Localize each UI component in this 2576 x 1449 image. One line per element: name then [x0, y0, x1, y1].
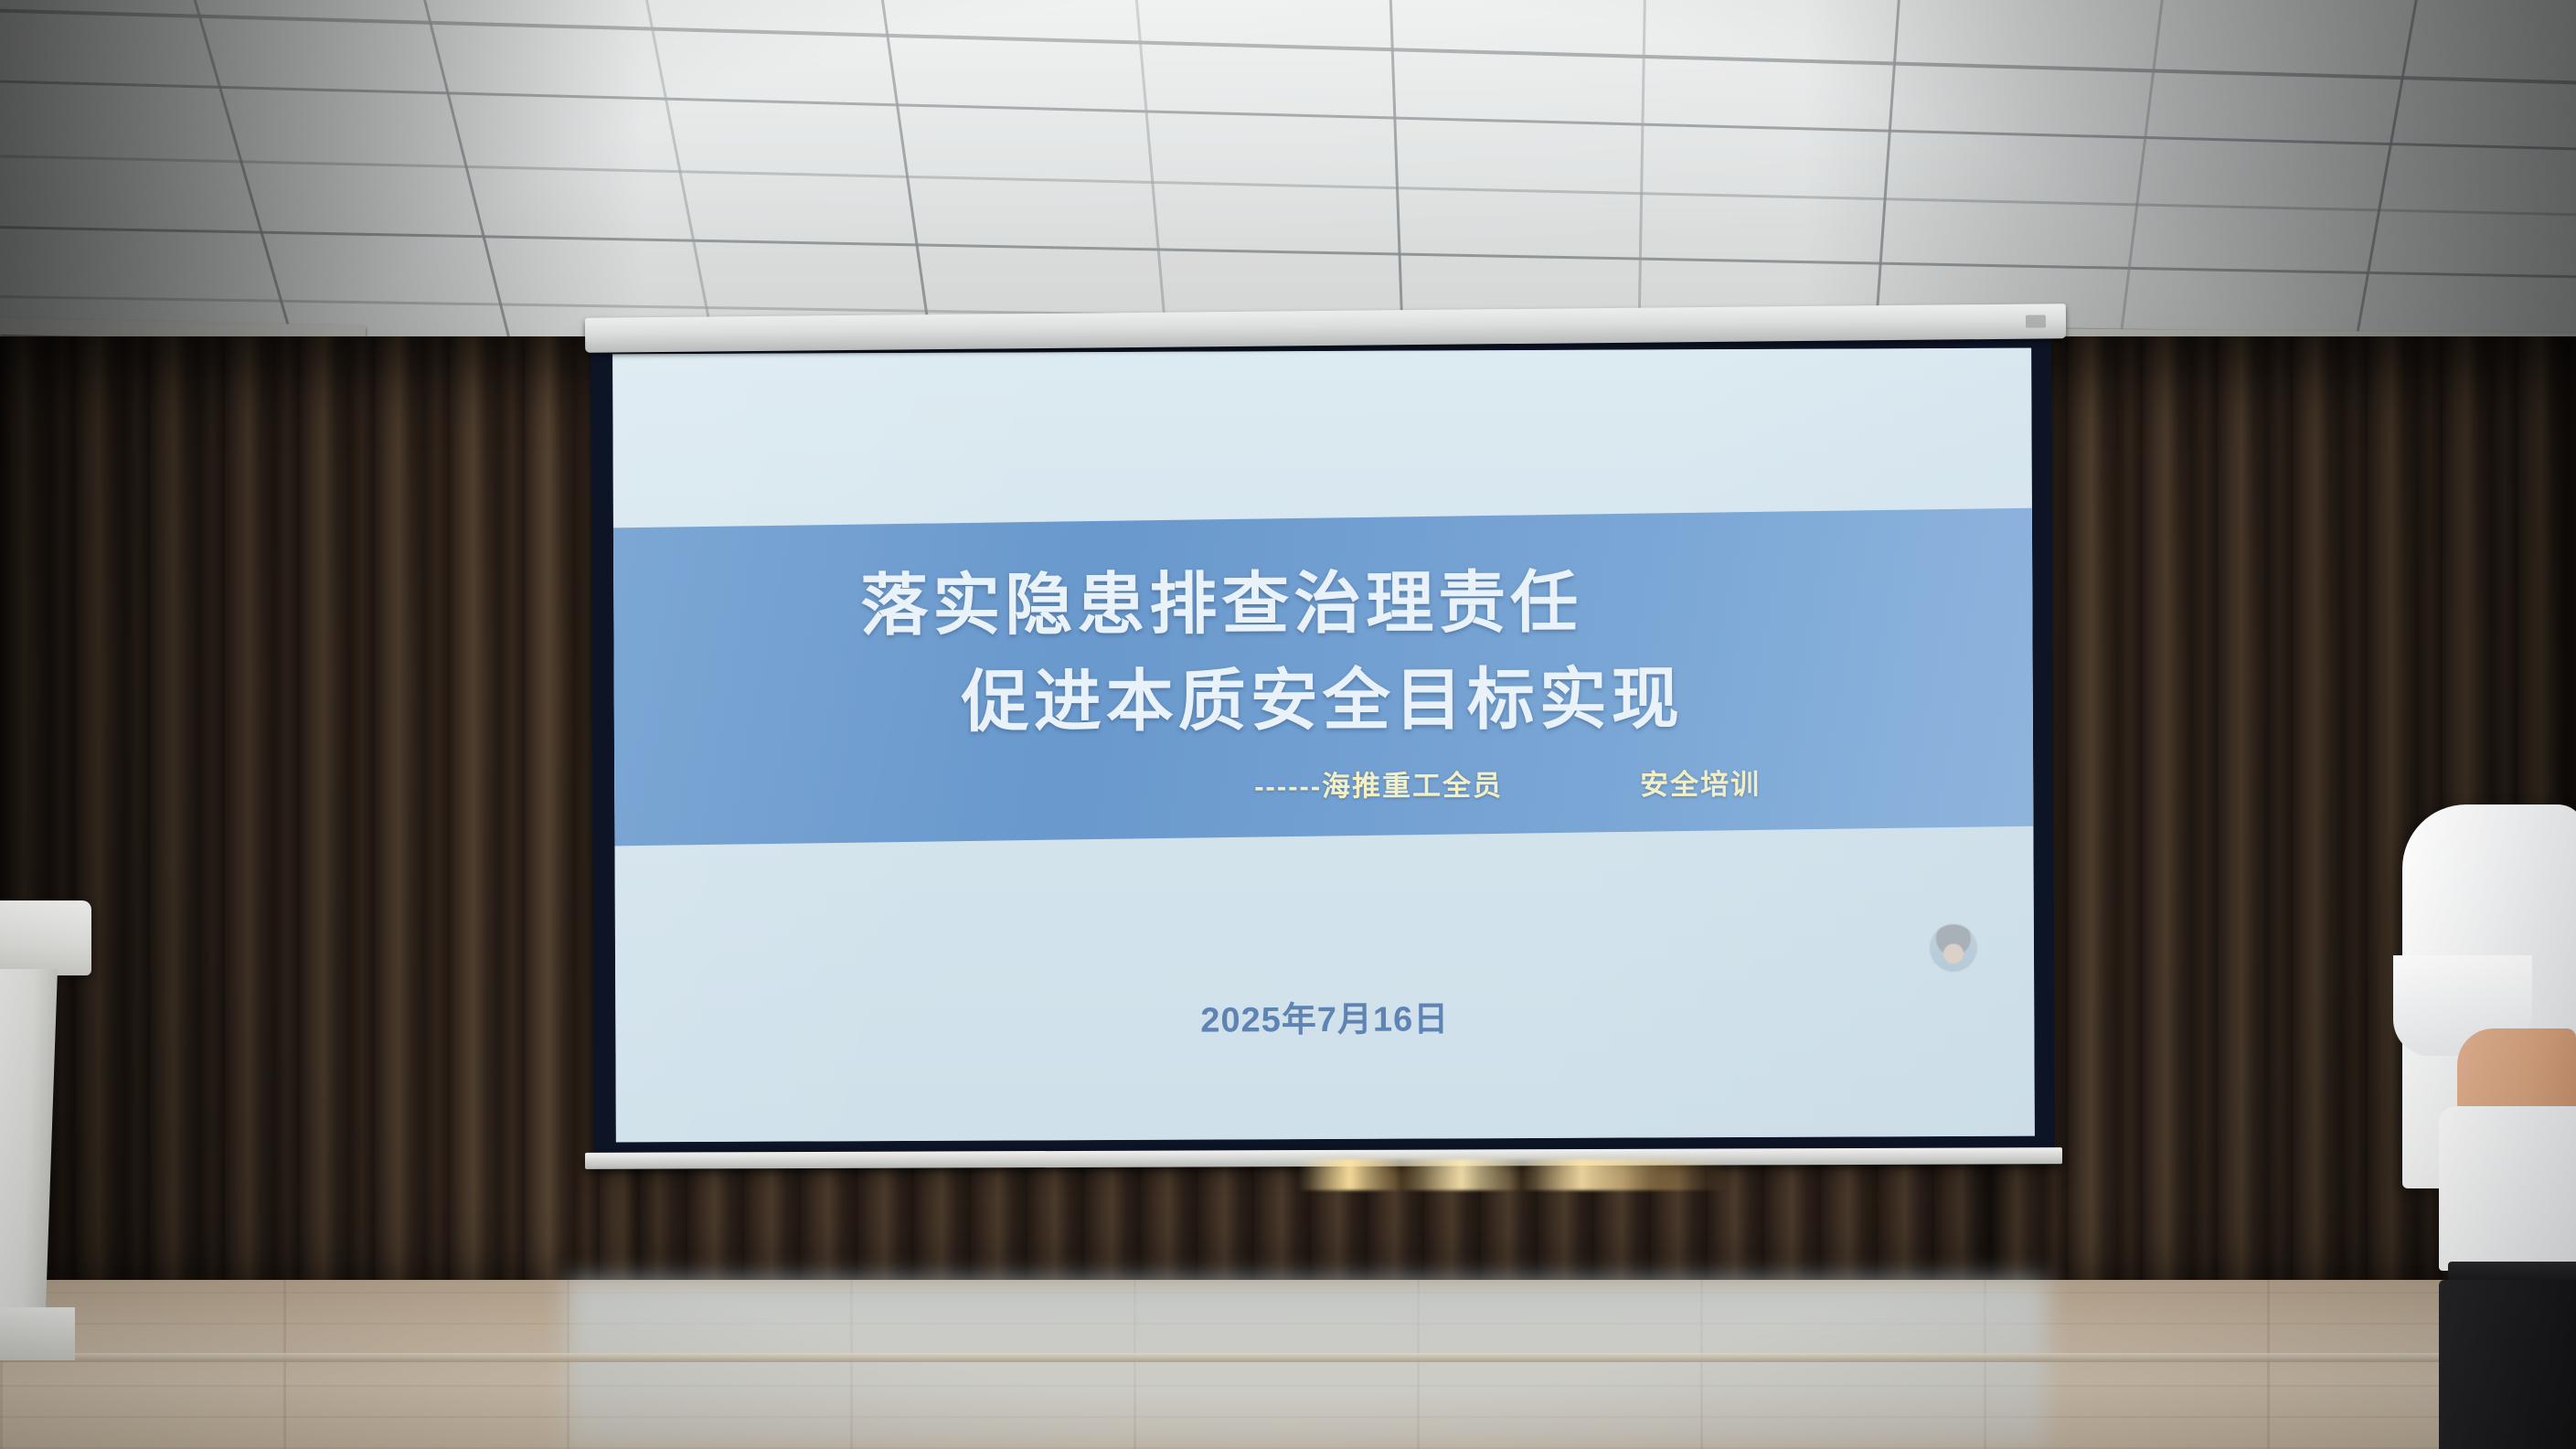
podium-base: [0, 1307, 75, 1360]
presentation-slide: 落实隐患排查治理责任 促进本质安全目标实现 ------海推重工全员安全培训 2…: [612, 348, 2035, 1143]
slide-title-line-2: 促进本质安全目标实现: [962, 645, 1684, 745]
curtain-left: [0, 336, 640, 1305]
floor-edge-strip: [0, 1353, 2576, 1362]
casing-brand-logo-icon: [2026, 314, 2046, 327]
slide-subtitle-right: 安全培训: [1640, 768, 1761, 801]
floor: [0, 1280, 2576, 1449]
standing-person: [2393, 804, 2576, 1449]
presenter-avatar-icon: [1930, 924, 1977, 972]
person-shirt-lower: [2439, 1106, 2576, 1271]
slide-date: 2025年7月16日: [1200, 990, 1449, 1041]
slide-subtitle-left: ------海推重工全员: [1254, 770, 1503, 803]
projection-screen-surface: 落实隐患排查治理责任 促进本质安全目标实现 ------海推重工全员安全培训 2…: [612, 348, 2035, 1143]
conference-room-photo: 落实隐患排查治理责任 促进本质安全目标实现 ------海推重工全员安全培训 2…: [0, 0, 2576, 1449]
person-pants: [2439, 1280, 2576, 1449]
projection-screen-frame: 落实隐患排查治理责任 促进本质安全目标实现 ------海推重工全员安全培训 2…: [591, 334, 2055, 1161]
slide-subtitle-row: ------海推重工全员安全培训: [1254, 761, 1761, 804]
slide-title-line-1: 落实隐患排查治理责任: [860, 548, 1582, 648]
subtitle-spacer: [1503, 794, 1640, 795]
podium-top: [0, 900, 91, 975]
slide-title-band: 落实隐患排查治理责任 促进本质安全目标实现 ------海推重工全员安全培训: [613, 508, 2033, 847]
